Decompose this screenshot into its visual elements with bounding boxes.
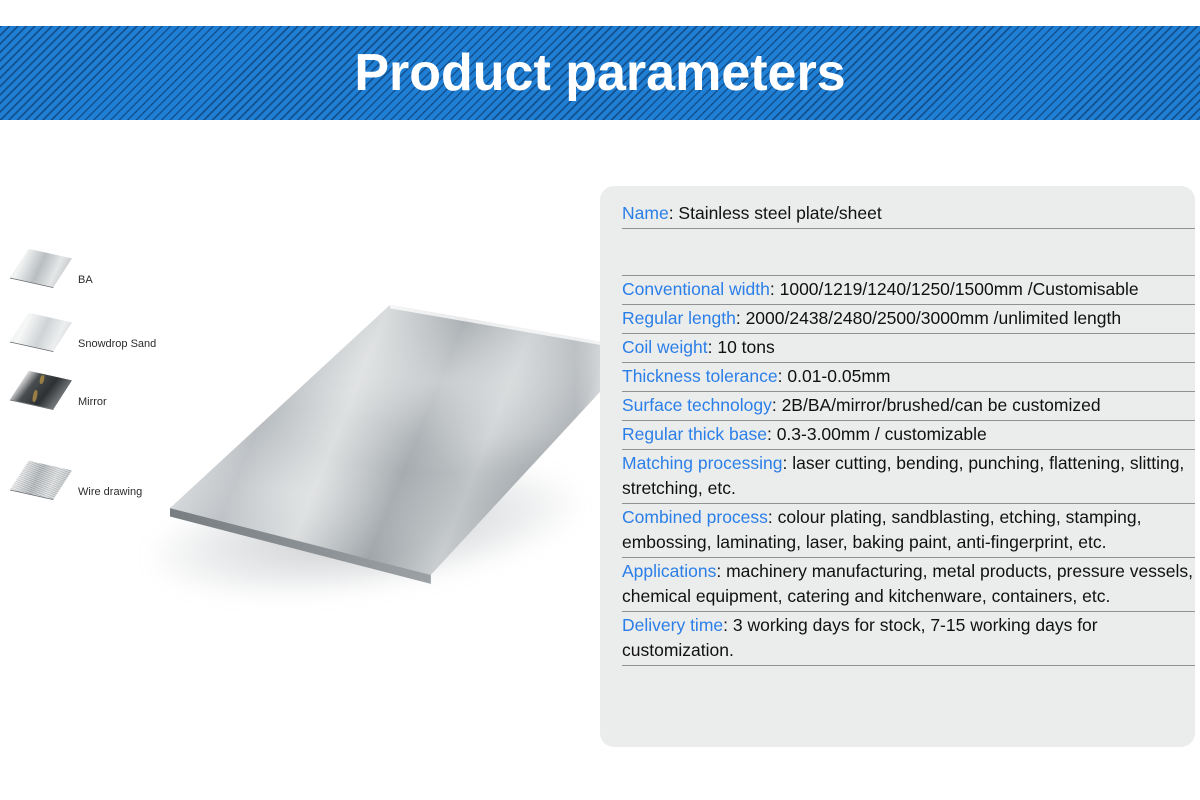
spec-row-list: Name: Stainless steel plate/sheetConvent… xyxy=(622,200,1195,666)
spec-row-label: Regular length xyxy=(622,308,736,328)
spec-row-separator: : xyxy=(783,453,793,473)
spec-row: Matching processing: laser cutting, bend… xyxy=(622,450,1195,504)
spec-row-label: Surface technology xyxy=(622,395,772,415)
finish-sample-snowdrop-sand: Snowdrop Sand xyxy=(10,312,156,352)
spec-row-separator: : xyxy=(770,279,780,299)
spec-row-value: 0.3-3.00mm / customizable xyxy=(777,424,987,444)
spec-row-value: 0.01-0.05mm xyxy=(787,366,890,386)
spec-row-label: Conventional width xyxy=(622,279,770,299)
spec-row: Coil weight: 10 tons xyxy=(622,334,1195,363)
product-parameters-panel: Name: Stainless steel plate/sheetConvent… xyxy=(600,186,1195,747)
finish-sample-label: BA xyxy=(78,274,93,286)
spec-row: Surface technology: 2B/BA/mirror/brushed… xyxy=(622,392,1195,421)
sample-face xyxy=(10,248,72,288)
spec-row-separator: : xyxy=(772,395,782,415)
spec-row-value: 2B/BA/mirror/brushed/can be customized xyxy=(782,395,1101,415)
spec-row-label: Coil weight xyxy=(622,337,708,357)
spec-row-separator: : xyxy=(708,337,718,357)
sample-plate-ba-icon xyxy=(10,248,72,288)
sample-plate-snowdrop-sand-icon xyxy=(10,312,72,352)
page-title: Product parameters xyxy=(354,47,845,99)
spec-row-separator: : xyxy=(767,424,777,444)
finish-sample-label: Wire drawing xyxy=(78,486,142,498)
spec-row-separator: : xyxy=(768,507,778,527)
spec-row-value: 10 tons xyxy=(717,337,774,357)
spec-row-label: Combined process xyxy=(622,507,768,527)
spec-row-label: Delivery time xyxy=(622,615,723,635)
spec-row-label: Applications xyxy=(622,561,716,581)
spec-row: Regular length: 2000/2438/2480/2500/3000… xyxy=(622,305,1195,334)
spec-row: Thickness tolerance: 0.01-0.05mm xyxy=(622,363,1195,392)
sample-plate-mirror-icon xyxy=(10,370,72,410)
spec-row-separator: : xyxy=(716,561,726,581)
spec-row: Applications: machinery manufacturing, m… xyxy=(622,558,1195,612)
finish-sample-label: Snowdrop Sand xyxy=(78,338,156,350)
finish-sample-wire-drawing: Wire drawing xyxy=(10,460,142,500)
spec-row: Delivery time: 3 working days for stock,… xyxy=(622,612,1195,666)
spec-row-label: Name xyxy=(622,203,669,223)
spec-row-separator: : xyxy=(736,308,746,328)
spec-row-label: Regular thick base xyxy=(622,424,767,444)
spec-row-separator: : xyxy=(669,203,679,223)
spec-row: Combined process: colour plating, sandbl… xyxy=(622,504,1195,558)
spec-row-label: Matching processing xyxy=(622,453,783,473)
finish-sample-mirror: Mirror xyxy=(10,370,107,410)
spec-row-value: 1000/1219/1240/1250/1500mm /Customisable xyxy=(780,279,1139,299)
finish-sample-ba: BA xyxy=(10,248,93,288)
spec-row-value: 2000/2438/2480/2500/3000mm /unlimited le… xyxy=(746,308,1122,328)
page-header-banner: Product parameters xyxy=(0,26,1200,120)
spec-row-label: Thickness tolerance xyxy=(622,366,778,386)
spec-row-separator: : xyxy=(723,615,733,635)
spec-row-separator: : xyxy=(778,366,788,386)
sample-face xyxy=(10,460,72,500)
spec-row-spacer xyxy=(622,229,1195,276)
sample-face xyxy=(10,312,72,352)
sample-plate-wire-drawing-icon xyxy=(10,460,72,500)
finish-sample-label: Mirror xyxy=(78,396,107,408)
spec-row: Regular thick base: 0.3-3.00mm / customi… xyxy=(622,421,1195,450)
spec-row: Conventional width: 1000/1219/1240/1250/… xyxy=(622,276,1195,305)
spec-row-value: Stainless steel plate/sheet xyxy=(678,203,881,223)
spec-row: Name: Stainless steel plate/sheet xyxy=(622,200,1195,229)
hero-stainless-steel-plate-image xyxy=(170,295,640,585)
